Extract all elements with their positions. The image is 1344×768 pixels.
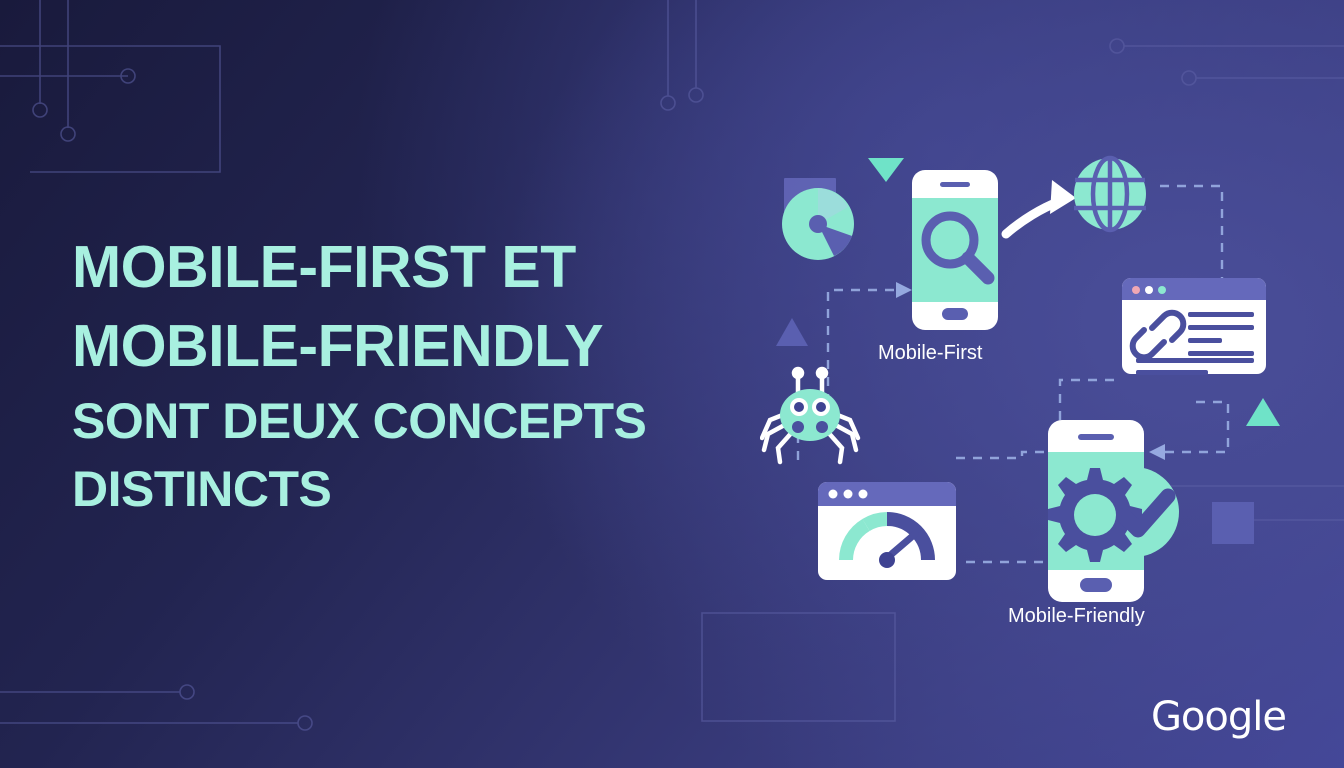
browser-link-node[interactable]: [1122, 278, 1266, 375]
headline-line-4: DISTINCTS: [72, 464, 772, 514]
slide-canvas: MOBILE-FIRST ET MOBILE-FRIENDLY SONT DEU…: [0, 0, 1344, 768]
headline-line-2: MOBILE-FRIENDLY: [72, 317, 772, 376]
seo-flow-illustration: [760, 130, 1344, 650]
pie-chart-icon: [782, 178, 854, 260]
phone-search-node[interactable]: [912, 170, 998, 330]
triangle-down-mint-icon: [868, 158, 904, 182]
triangle-up-mint-icon: [1246, 398, 1280, 426]
curved-arrow-icon: [1006, 180, 1076, 234]
headline-line-1: MOBILE-FIRST ET: [72, 238, 772, 297]
globe-icon: [1074, 158, 1146, 230]
label-mobile-friendly: Mobile-Friendly: [1008, 605, 1145, 628]
triangle-up-indigo-icon: [776, 318, 808, 346]
label-mobile-first: Mobile-First: [878, 342, 982, 365]
page-title: MOBILE-FIRST ET MOBILE-FRIENDLY SONT DEU…: [72, 238, 772, 514]
browser-speed-node[interactable]: [818, 482, 956, 580]
headline-line-3: SONT DEUX CONCEPTS: [72, 396, 772, 446]
spider-icon: [762, 369, 858, 462]
google-logo: Google: [1151, 694, 1286, 740]
square-indigo-icon: [1212, 502, 1254, 544]
